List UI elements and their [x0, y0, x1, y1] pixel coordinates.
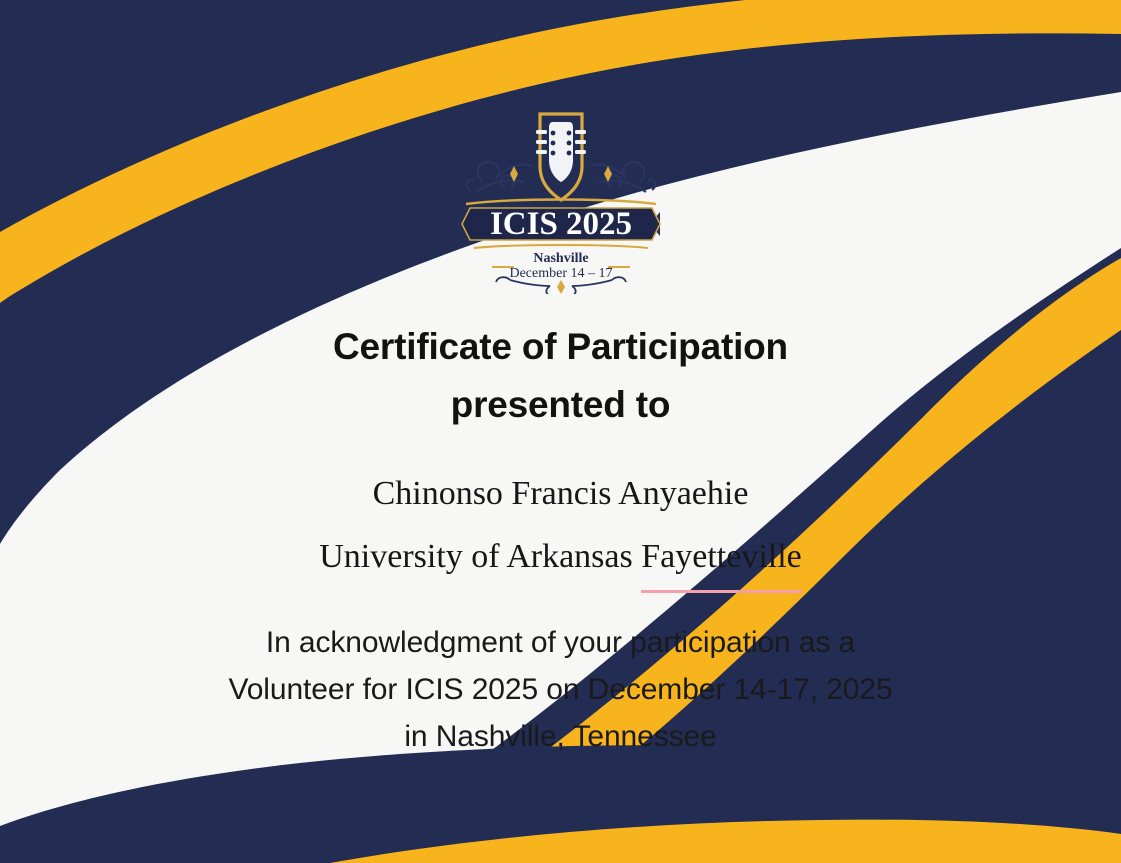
- recipient-details: Chinonso Francis Anyaehie University of …: [319, 463, 802, 593]
- gold-rule-bottom: [474, 245, 648, 248]
- certificate-body: In acknowledgment of your participation …: [228, 619, 892, 761]
- center-diamond-icon: [557, 280, 565, 294]
- body-line-1: In acknowledgment of your participation …: [228, 619, 892, 666]
- affiliation-flagged-word: Fayetteville: [641, 526, 802, 593]
- certificate-page: ICIS 2025 Nashville December 14 – 17: [0, 0, 1121, 863]
- recipient-name: Chinonso Francis Anyaehie: [319, 463, 802, 526]
- title-line-1: Certificate of Participation: [333, 318, 788, 376]
- certificate-title: Certificate of Participation presented t…: [333, 318, 788, 435]
- emblem-city: Nashville: [533, 251, 588, 266]
- affiliation-prefix: University of Arkansas: [319, 538, 641, 575]
- icis-2025-logo: ICIS 2025 Nashville December 14 – 17: [452, 104, 670, 294]
- banner-text: ICIS 2025: [489, 206, 631, 242]
- filigree-right-icon: [590, 162, 655, 192]
- emblem-dates: December 14 – 17: [509, 266, 612, 281]
- body-line-3: in Nashville, Tennessee: [228, 713, 892, 760]
- title-line-2: presented to: [333, 376, 788, 434]
- body-line-2: Volunteer for ICIS 2025 on December 14-1…: [228, 666, 892, 713]
- recipient-affiliation: University of Arkansas Fayetteville: [319, 526, 802, 593]
- filigree-left-icon: [466, 162, 531, 192]
